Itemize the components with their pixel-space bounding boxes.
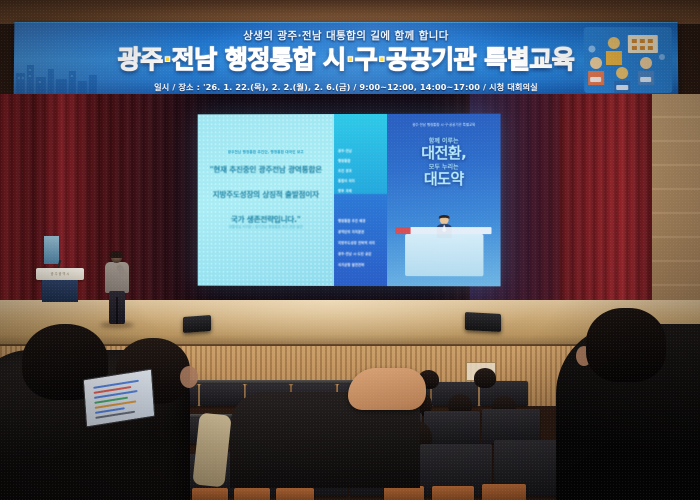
foreground-hand bbox=[348, 368, 426, 410]
slide-right-poster: 광주·전남 행정통합 시·구·공공기관 특별교육 함께 이루는 대전환, 모두 … bbox=[387, 114, 501, 287]
lectern: 광 주 광 역 시 bbox=[36, 262, 84, 304]
meeting-people-illustration bbox=[584, 27, 673, 93]
upper-wall bbox=[0, 0, 700, 24]
poster-line2: 대도약 bbox=[387, 168, 501, 189]
slide-mid-sub-4: 국가균형 발전전략 bbox=[338, 262, 384, 267]
slide-left-panel: 광주전남 행정통합 추진단, 행정통합 대국민 보고 "현재 추진중인 광주전남… bbox=[198, 114, 334, 286]
slide-mid-item-0: 광주·전남 bbox=[338, 148, 384, 153]
slide-mid-item-4: 향후 과제 bbox=[338, 188, 384, 193]
foreground-head-right bbox=[586, 308, 666, 382]
slide-mid-item-2: 추진 경과 bbox=[338, 168, 384, 173]
slide-mid-item-1: 행정통합 bbox=[338, 158, 384, 163]
slide-quote-line-2: 지방주도성장의 상징적 출발점이자 bbox=[202, 189, 330, 200]
projection-screen: 광주전남 행정통합 추진단, 행정통합 대국민 보고 "현재 추진중인 광주전남… bbox=[198, 114, 501, 287]
slide-citation: 대통령실 브리핑 / 광주전남 행정통합 추진 관련 발언 bbox=[206, 224, 326, 229]
foreground-ear bbox=[180, 366, 198, 388]
banner-sub-line: 일시 / 장소 : '26. 1. 22.(목), 2. 2.(월), 2. 6… bbox=[14, 81, 679, 93]
presenter-legs bbox=[109, 291, 125, 324]
pa-speaker-right bbox=[465, 312, 501, 332]
slide-mid-sub-2: 지방주도성장 전략적 의미 bbox=[338, 240, 384, 245]
presenter-hair bbox=[110, 251, 123, 258]
right-side-wall bbox=[652, 94, 700, 316]
slide-mid-sub-1: 광역단위 자치분권 bbox=[338, 229, 384, 234]
confidence-monitor bbox=[44, 236, 59, 264]
presenter-figure bbox=[104, 252, 130, 326]
auditorium-photo: 상생의 광주·전남 대통합의 길에 함께 합니다 광주·전남 행정통합 시·구·… bbox=[0, 0, 700, 500]
slide-mid-sub-3: 광주·전남 시·도민 공감 bbox=[338, 251, 384, 256]
slide-mid-panel: 광주·전남 행정통합 추진 경과 통합의 의미 향후 과제 행정통합 추진 배경… bbox=[334, 114, 387, 286]
foreground-audience bbox=[0, 330, 700, 500]
lectern-label: 광 주 광 역 시 bbox=[40, 271, 80, 276]
slide-mid-item-3: 통합의 의미 bbox=[338, 178, 384, 183]
slide-dot-texture bbox=[198, 114, 334, 286]
event-banner: 상생의 광주·전남 대통합의 길에 함께 합니다 광주·전남 행정통합 시·구·… bbox=[14, 22, 679, 98]
banner-main-title: 광주·전남 행정통합 시·구·공공기관 특별교육 bbox=[14, 40, 678, 76]
slide-quote-line-1: "현재 추진중인 광주전남 광역통합은 bbox=[202, 164, 330, 175]
beige-scarf bbox=[192, 413, 231, 488]
poster-kicker: 광주·전남 행정통합 시·구·공공기관 특별교육 bbox=[387, 123, 501, 128]
slide-mid-sub-0: 행정통합 추진 배경 bbox=[338, 218, 384, 223]
poster-line1: 대전환, bbox=[387, 142, 501, 163]
poster-podium bbox=[405, 234, 483, 276]
lectern-body bbox=[42, 280, 78, 302]
slide-header: 광주전남 행정통합 추진단, 행정통합 대국민 보고 bbox=[206, 150, 326, 155]
